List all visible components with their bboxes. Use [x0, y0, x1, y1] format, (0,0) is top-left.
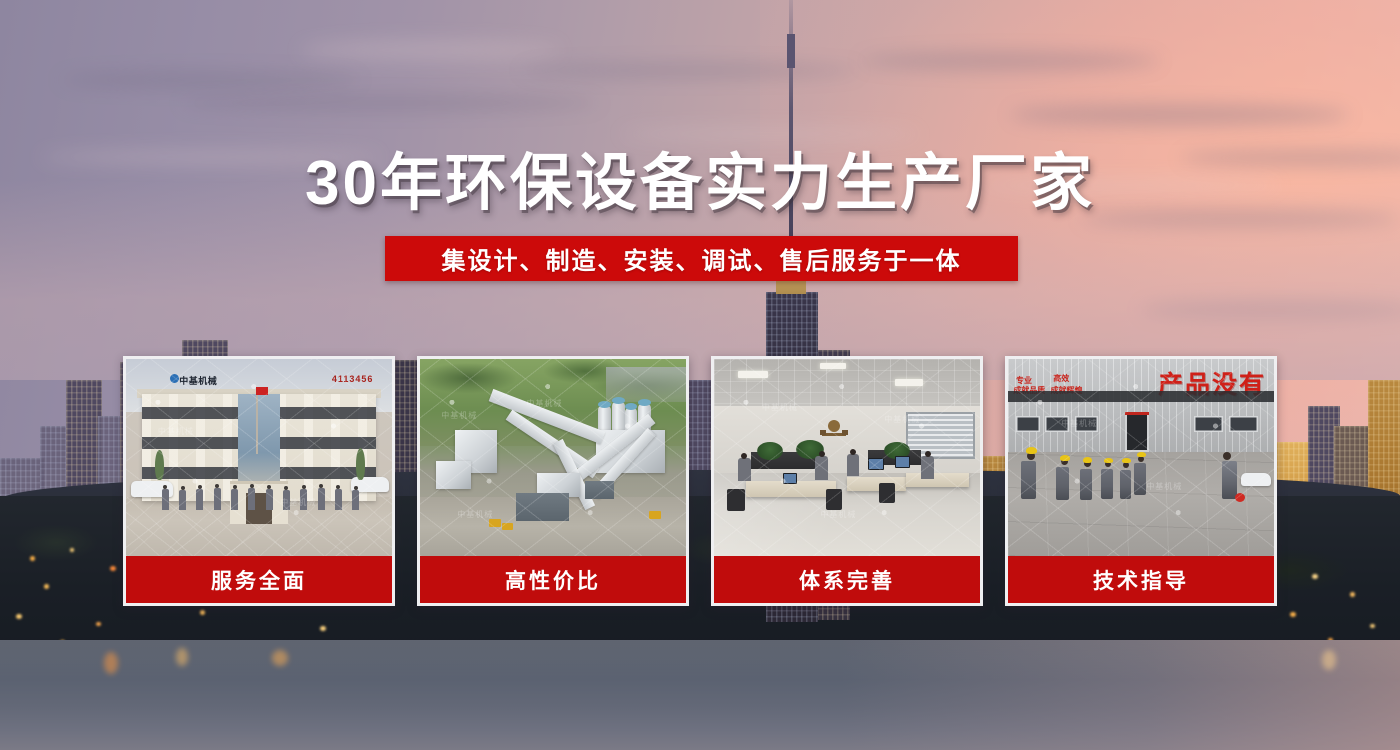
shore-light [30, 556, 35, 561]
subtitle-text: 集设计、制造、安装、调试、售后服务于一体 [442, 241, 962, 276]
aerial-industrial-plant-photo: 中基机械 中基机械 中基机械 [420, 359, 686, 556]
company-logo-icon [170, 374, 179, 383]
shore-light [1350, 592, 1355, 597]
shore-light [16, 614, 22, 619]
building-phone-text: 4113456 [332, 374, 374, 384]
water-reflection [176, 648, 188, 666]
shore-light [44, 584, 49, 589]
shore-light [70, 548, 74, 552]
shore-light [96, 622, 101, 626]
office-interior-staff-photo: 中基机械 中基机械 中基机械 [714, 359, 980, 556]
shore-light [320, 626, 326, 631]
river-shimmer [0, 640, 1400, 680]
water-reflection [1322, 650, 1336, 670]
cloud [520, 64, 860, 77]
office-building-staff-photo: 中基机械 4113456 [126, 359, 392, 556]
shore-light [200, 610, 205, 615]
shore-light [1290, 612, 1296, 617]
cloud [180, 96, 600, 110]
workers-training-workshop-photo: 产品没有 专业 高效 成就品质 成就辉煌 [1008, 359, 1274, 556]
water-reflection [104, 652, 118, 674]
card-caption: 体系完善 [714, 556, 980, 603]
feature-cards: 中基机械 4113456 [123, 356, 1277, 606]
shore-light [1370, 624, 1375, 628]
promo-banner: 30年环保设备实力生产厂家 集设计、制造、安装、调试、售后服务于一体 [0, 0, 1400, 750]
feature-card-value[interactable]: 中基机械 中基机械 中基机械 高性价比 [417, 356, 689, 606]
feature-card-training[interactable]: 产品没有 专业 高效 成就品质 成就辉煌 [1005, 356, 1277, 606]
tower-spire-tip [787, 34, 795, 68]
workshop-slogan: 高效 [1053, 373, 1069, 384]
wall-emblem-icon [812, 416, 856, 442]
card-caption: 服务全面 [126, 556, 392, 603]
cloud [300, 40, 560, 60]
card-caption: 技术指导 [1008, 556, 1274, 603]
cloud [1010, 104, 1350, 126]
feature-card-service[interactable]: 中基机械 4113456 [123, 356, 395, 606]
water-reflection [272, 650, 288, 666]
feature-card-system[interactable]: 中基机械 中基机械 中基机械 体系完善 [711, 356, 983, 606]
building-sign-text: 中基机械 [179, 374, 217, 387]
cloud [860, 52, 1160, 70]
subtitle-banner: 集设计、制造、安装、调试、售后服务于一体 [385, 236, 1018, 281]
shore-light [110, 566, 116, 571]
shore-light [1312, 574, 1318, 579]
page-title: 30年环保设备实力生产厂家 [0, 132, 1400, 222]
card-caption: 高性价比 [420, 556, 686, 603]
cloud [60, 72, 360, 88]
